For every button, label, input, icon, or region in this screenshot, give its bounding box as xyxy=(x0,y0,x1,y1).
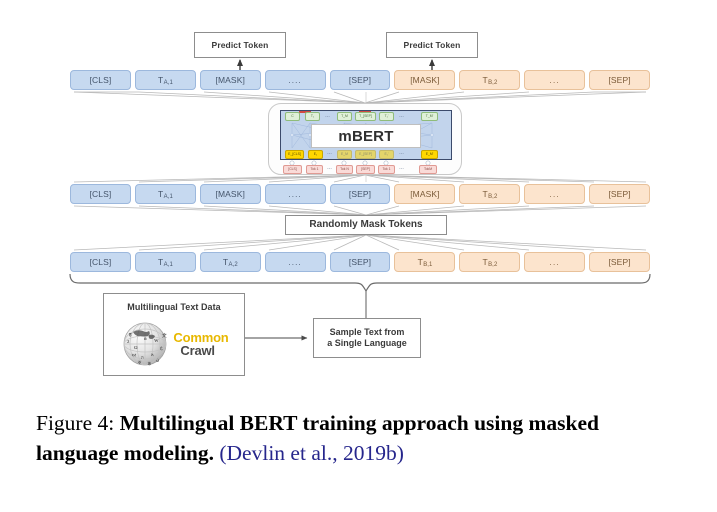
multilingual-text-data-box: Multilingual Text Data xyxy=(103,293,245,376)
token-1-2: [MASK] xyxy=(200,184,261,204)
mbert-emb-ellipsis-1: … xyxy=(327,151,332,156)
svg-text:W: W xyxy=(154,338,159,343)
mbert-out-ellipsis-1: … xyxy=(325,114,330,119)
mbert-out-chip-0: C xyxy=(285,112,300,121)
randomly-mask-tokens-box: Randomly Mask Tokens xyxy=(285,215,447,235)
fan-input-to-mbert xyxy=(74,175,646,182)
caption-period: . xyxy=(209,441,220,465)
token-2-4: [SEP] xyxy=(330,252,391,272)
token-0-4: [SEP] xyxy=(330,70,391,90)
token-row-raw-tokens: [CLS]TA,1TA,2....[SEP]TB,1TB,2...[SEP] xyxy=(70,252,650,272)
token-0-0: [CLS] xyxy=(70,70,131,90)
figure-caption: Figure 4: Multilingual BERT training app… xyxy=(36,408,684,468)
token-row-masked-input: [CLS]TA,1[MASK]....[SEP][MASK]TB,2...[SE… xyxy=(70,184,650,204)
token-2-5: TB,1 xyxy=(394,252,455,272)
mbert-out-chip-1: T₁ xyxy=(305,112,320,121)
token-1-6: TB,2 xyxy=(459,184,520,204)
mbert-emb-chip-2: E_M xyxy=(337,150,352,159)
sample-text-line-2: a Single Language xyxy=(327,338,407,348)
mbert-in-chip-5: TokM xyxy=(419,165,437,174)
token-2-7: ... xyxy=(524,252,585,272)
token-row-masked-output: [CLS]TA,1[MASK]....[SEP][MASK]TB,2...[SE… xyxy=(70,70,650,90)
token-1-8: [SEP] xyxy=(589,184,650,204)
svg-text:አ: አ xyxy=(151,352,154,357)
svg-text:文: 文 xyxy=(162,332,167,339)
token-0-5: [MASK] xyxy=(394,70,455,90)
common-crawl-crawl-word: Crawl xyxy=(180,344,214,358)
token-1-3: .... xyxy=(265,184,326,204)
svg-text:ת: ת xyxy=(141,355,144,360)
mbert-in-ellipsis-1: … xyxy=(327,166,332,171)
svg-text:й: й xyxy=(144,336,147,341)
mbert-out-chip-2: T_M xyxy=(337,112,352,121)
predict-token-box-2: Predict Token xyxy=(386,32,478,58)
mbert-emb-chip-1: E₁ xyxy=(308,150,323,159)
token-1-7: ... xyxy=(524,184,585,204)
figure-graphic: Predict Token Predict Token [CLS]TA,1[MA… xyxy=(0,0,717,400)
mbert-out-chip-3: T_[SEP] xyxy=(355,112,376,121)
token-1-0: [CLS] xyxy=(70,184,131,204)
fan-mbert-to-output xyxy=(74,92,646,103)
wikipedia-globe-icon: 2 Ω й W ع ਅ ת አ ক ぁ ن ह 文 xyxy=(119,318,171,370)
mbert-emb-ellipsis-2: … xyxy=(399,151,404,156)
mbert-emb-chip-5: E_M' xyxy=(421,150,438,159)
mbert-out-chip-5: T_M' xyxy=(421,112,438,121)
token-2-0: [CLS] xyxy=(70,252,131,272)
token-0-8: [SEP] xyxy=(589,70,650,90)
token-2-1: TA,1 xyxy=(135,252,196,272)
token-0-6: TB,2 xyxy=(459,70,520,90)
token-1-1: TA,1 xyxy=(135,184,196,204)
token-2-8: [SEP] xyxy=(589,252,650,272)
mbert-in-chip-2: Tok N xyxy=(336,165,353,174)
mbert-in-chip-4: Tok 1 xyxy=(378,165,395,174)
multilingual-text-data-title: Multilingual Text Data xyxy=(104,302,244,313)
svg-text:ह: ह xyxy=(128,332,132,337)
sample-text-box: Sample Text from a Single Language xyxy=(313,318,421,358)
mbert-module: C T₁ … T_M T_[SEP] T₁' … T_M' E_[CLS] E₁… xyxy=(268,103,462,175)
mbert-emb-chip-0: E_[CLS] xyxy=(285,150,304,159)
token-0-3: .... xyxy=(265,70,326,90)
mbert-in-chip-3: [SEP] xyxy=(356,165,375,174)
mbert-out-ellipsis-2: … xyxy=(399,114,404,119)
mbert-output-chip-row: C T₁ … T_M T_[SEP] T₁' … T_M' xyxy=(281,112,453,121)
svg-text:Ω: Ω xyxy=(134,345,138,350)
token-2-3: .... xyxy=(265,252,326,272)
token-2-6: TB,2 xyxy=(459,252,520,272)
token-2-2: TA,2 xyxy=(200,252,261,272)
mbert-label: mBERT xyxy=(311,124,421,148)
fan-mask-to-row2 xyxy=(74,206,646,215)
mbert-emb-chip-4: E₁' xyxy=(379,150,394,159)
predict-arrows xyxy=(240,60,432,70)
mbert-out-chip-4: T₁' xyxy=(379,112,394,121)
mbert-embedding-chip-row: E_[CLS] E₁ … E_M E_[SEP] E₁' … E_M' xyxy=(281,150,453,159)
fan-row3-to-mask xyxy=(74,235,646,250)
predict-token-box-1: Predict Token xyxy=(194,32,286,58)
caption-citation[interactable]: (Devlin et al., 2019b) xyxy=(219,441,404,465)
mbert-in-chip-1: Tok 1 xyxy=(306,165,323,174)
sample-text-line-1: Sample Text from xyxy=(330,327,405,337)
data-source-logos: 2 Ω й W ع ਅ ת አ ক ぁ ن ह 文 Common Crawl xyxy=(104,318,244,370)
token-0-7: ... xyxy=(524,70,585,90)
mbert-emb-chip-3: E_[SEP] xyxy=(355,150,376,159)
caption-figure-number: Figure 4: xyxy=(36,411,120,435)
token-0-1: TA,1 xyxy=(135,70,196,90)
mbert-in-chip-0: [CLS] xyxy=(283,165,302,174)
token-0-2: [MASK] xyxy=(200,70,261,90)
mbert-input-chip-row: [CLS] Tok 1 … Tok N [SEP] Tok 1 … TokM xyxy=(280,165,452,174)
grouping-brace xyxy=(70,274,650,291)
mbert-in-ellipsis-2: … xyxy=(399,166,404,171)
svg-text:ぁ: ぁ xyxy=(147,361,152,367)
common-crawl-wordmark: Common Crawl xyxy=(173,331,228,358)
token-1-5: [MASK] xyxy=(394,184,455,204)
token-1-4: [SEP] xyxy=(330,184,391,204)
common-crawl-common-word: Common xyxy=(173,331,228,345)
